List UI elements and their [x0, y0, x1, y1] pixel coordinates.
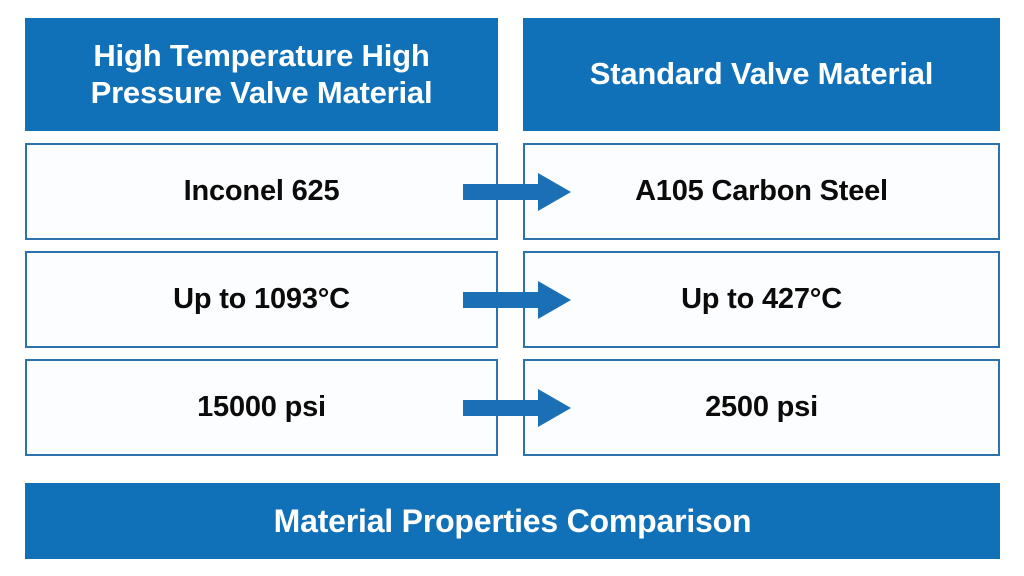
- column-header-high-temperature-high-pressure: High Temperature High Pressure Valve Mat…: [25, 18, 498, 131]
- column-header-standard-valve: Standard Valve Material: [523, 18, 1000, 131]
- cell-temperature-left-label: Up to 1093°C: [173, 284, 350, 316]
- cell-material-left-label: Inconel 625: [184, 176, 340, 208]
- cell-material-left: Inconel 625: [25, 143, 498, 240]
- cell-pressure-right-label: 2500 psi: [705, 392, 818, 424]
- cell-temperature-left: Up to 1093°C: [25, 251, 498, 348]
- slide-footer-banner: Material Properties Comparison: [25, 483, 1000, 559]
- cell-pressure-right: 2500 psi: [523, 359, 1000, 456]
- cell-temperature-right-label: Up to 427°C: [681, 284, 842, 316]
- slide-footer-label: Material Properties Comparison: [274, 503, 752, 540]
- cell-material-right: A105 Carbon Steel: [523, 143, 1000, 240]
- comparison-slide: High Temperature High Pressure Valve Mat…: [0, 0, 1024, 576]
- cell-pressure-left: 15000 psi: [25, 359, 498, 456]
- cell-temperature-right: Up to 427°C: [523, 251, 1000, 348]
- column-header-right-label: Standard Valve Material: [590, 56, 933, 92]
- cell-material-right-label: A105 Carbon Steel: [635, 176, 888, 208]
- cell-pressure-left-label: 15000 psi: [197, 392, 326, 424]
- column-header-left-label: High Temperature High Pressure Valve Mat…: [39, 38, 484, 111]
